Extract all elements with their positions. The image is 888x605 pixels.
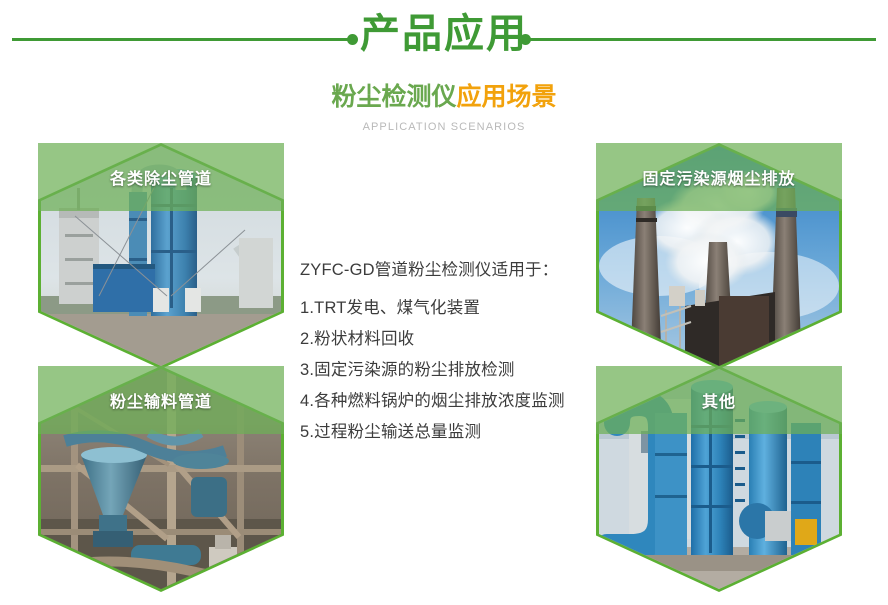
scenario-photo-stack-emissions xyxy=(599,146,839,366)
subtitle: 粉尘检测仪应用场景 xyxy=(0,80,888,114)
subtitle-block: 粉尘检测仪应用场景 APPLICATION SCENARIOS xyxy=(0,80,888,133)
page-title: 产品应用 xyxy=(0,6,888,62)
product-application-section: 产品应用 粉尘检测仪应用场景 APPLICATION SCENARIOS xyxy=(0,0,888,605)
scenario-photo-other-equipment xyxy=(599,369,839,589)
list-item: 2.粉状材料回收 xyxy=(300,324,600,355)
subtitle-part-scenario: 应用场景 xyxy=(457,83,557,111)
section-header: 产品应用 xyxy=(0,0,888,70)
application-copy: ZYFC-GD管道粉尘检测仪适用于： 1.TRT发电、煤气化装置 2.粉状材料回… xyxy=(300,255,600,448)
copy-lead: ZYFC-GD管道粉尘检测仪适用于： xyxy=(300,255,600,285)
list-item: 3.固定污染源的粉尘排放检测 xyxy=(300,355,600,386)
scenario-card-top-right[interactable]: 固定污染源烟尘排放 xyxy=(596,143,842,369)
subtitle-english: APPLICATION SCENARIOS xyxy=(0,121,888,133)
scenario-photo-dust-ducts xyxy=(41,146,281,366)
scenario-card-bottom-left[interactable]: 粉尘输料管道 xyxy=(38,366,284,592)
scenario-card-top-left[interactable]: 各类除尘管道 xyxy=(38,143,284,369)
list-item: 5.过程粉尘输送总量监测 xyxy=(300,417,600,448)
scenario-card-bottom-right[interactable]: 其他 xyxy=(596,366,842,592)
scenario-photo-conveying-pipes xyxy=(41,369,281,589)
list-item: 4.各种燃料锅炉的烟尘排放浓度监测 xyxy=(300,386,600,417)
subtitle-part-product: 粉尘检测仪 xyxy=(331,83,456,111)
application-list: 1.TRT发电、煤气化装置 2.粉状材料回收 3.固定污染源的粉尘排放检测 4.… xyxy=(300,293,600,448)
list-item: 1.TRT发电、煤气化装置 xyxy=(300,293,600,324)
